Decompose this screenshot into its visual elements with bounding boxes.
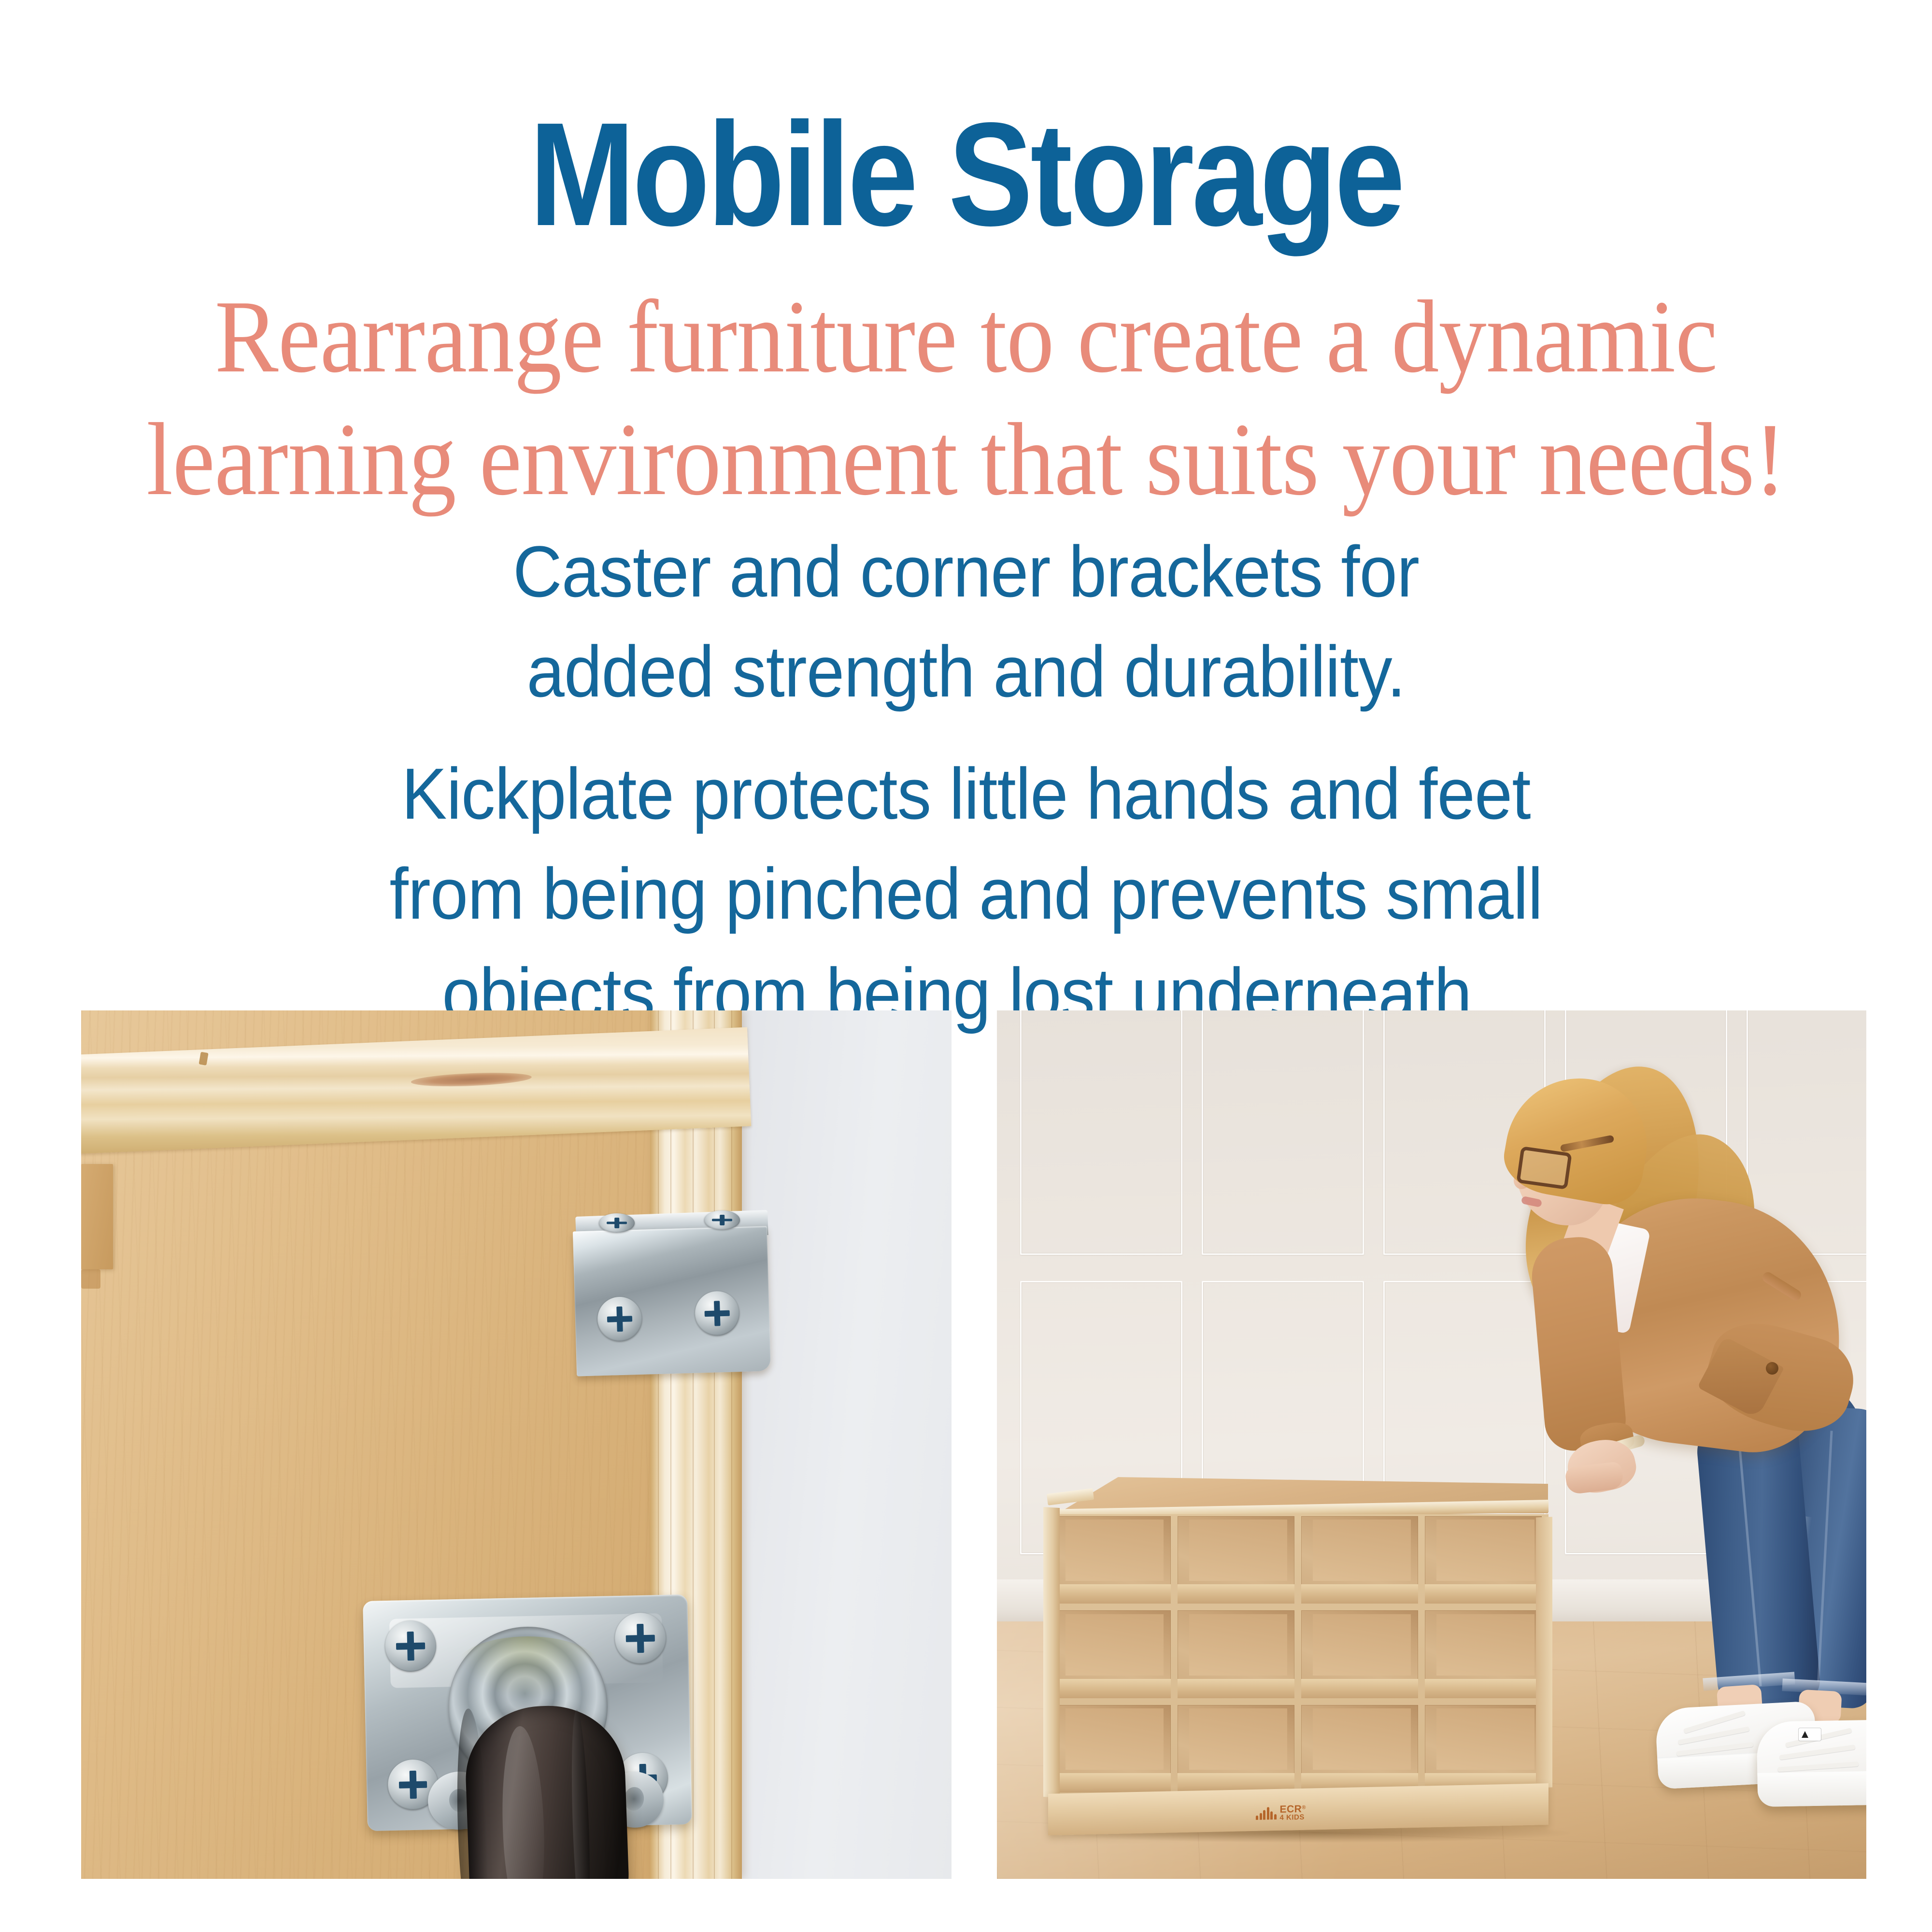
feature-text-kickplate: Kickplate protects little hands and feet… xyxy=(58,744,1874,1044)
wood-splinter xyxy=(199,1052,208,1065)
feature2-line-1: Kickplate protects little hands and feet xyxy=(58,744,1874,844)
wall-panel xyxy=(1202,1010,1364,1255)
panel-edge-block xyxy=(81,1164,113,1269)
brand-wordmark: ECR® 4 KIDS xyxy=(1280,1804,1306,1821)
feature2-line-2: from being pinched and prevents small xyxy=(58,844,1874,944)
corner-bracket-face xyxy=(573,1226,771,1376)
cubby-cell xyxy=(1178,1610,1294,1698)
cubby-cell xyxy=(1054,1610,1171,1698)
cubby-cell xyxy=(1301,1610,1418,1698)
page-title: Mobile Storage xyxy=(135,100,1797,248)
eyeglasses-lens xyxy=(1516,1146,1572,1190)
brand-tagline: 4 KIDS xyxy=(1280,1813,1305,1821)
mobile-cubby-unit: ECR® 4 KIDS xyxy=(1043,1476,1550,1843)
shoe-sole xyxy=(1757,1770,1866,1807)
page-subtitle: Rearrange furniture to create a dynamic … xyxy=(77,275,1855,520)
cardigan-button xyxy=(1766,1362,1778,1375)
unit-right-side-panel xyxy=(1536,1517,1552,1788)
phillips-screw-icon xyxy=(599,1213,635,1233)
subtitle-line-2: learning environment that suits your nee… xyxy=(77,398,1855,521)
phillips-screw-icon xyxy=(704,1210,740,1230)
unit-left-side-panel xyxy=(1043,1507,1060,1798)
feature-text-caster-corner-brackets: Caster and corner brackets for added str… xyxy=(58,522,1874,722)
subtitle-line-1: Rearrange furniture to create a dynamic xyxy=(77,275,1855,398)
shoe-brand-tag xyxy=(1799,1728,1821,1741)
cubby-cell xyxy=(1425,1705,1542,1792)
wood-knot xyxy=(411,1071,532,1088)
phillips-screw-icon xyxy=(597,1296,643,1342)
cubby-cell xyxy=(1054,1516,1171,1604)
registered-mark-icon: ® xyxy=(1302,1804,1306,1810)
brass-tint-highlight xyxy=(455,1636,601,1700)
promo-graphic: Mobile Storage Rearrange furniture to cr… xyxy=(0,0,1932,1932)
panel-edge-shadow xyxy=(81,1269,100,1289)
brand-logo: ECR® 4 KIDS xyxy=(1256,1802,1343,1823)
feature1-line-1: Caster and corner brackets for xyxy=(58,522,1874,622)
grey-wall-strip xyxy=(724,1010,952,1879)
cubby-cell xyxy=(1301,1516,1418,1604)
cubby-cell xyxy=(1425,1516,1542,1604)
wall-panel xyxy=(1020,1010,1182,1255)
cubby-cell xyxy=(1178,1516,1294,1604)
phillips-screw-icon xyxy=(694,1291,740,1336)
photo-mobile-unit-in-room: ECR® 4 KIDS xyxy=(997,1010,1866,1879)
cubby-cell xyxy=(1054,1705,1171,1792)
cubby-cell xyxy=(1178,1705,1294,1792)
photo-caster-closeup xyxy=(81,1010,952,1879)
feature1-line-2: added strength and durability. xyxy=(58,622,1874,722)
cubby-cell xyxy=(1425,1610,1542,1698)
cubby-grid xyxy=(1054,1516,1542,1792)
cubby-cell xyxy=(1301,1705,1418,1792)
people-icon xyxy=(1256,1807,1277,1820)
